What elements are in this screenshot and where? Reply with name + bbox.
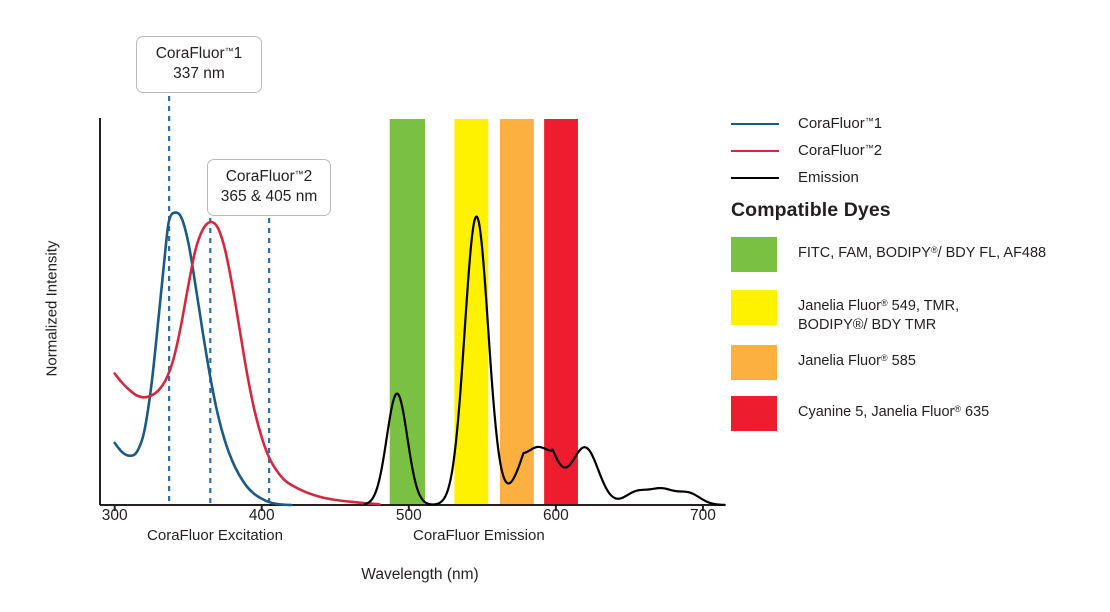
x-tick-label-700: 700: [673, 507, 733, 525]
callout-corafluor1-line1: CoraFluor™1: [149, 44, 249, 64]
dye-item-3: Cyanine 5, Janelia Fluor® 635: [731, 396, 989, 431]
callout-corafluor1-line2: 337 nm: [149, 64, 249, 84]
callout-corafluor2-line2: 365 & 405 nm: [220, 187, 318, 207]
x-axis-sublabel-emission: CoraFluor Emission: [413, 527, 543, 544]
excitation-marker-lines: [169, 86, 269, 505]
legend-item-label: Emission: [798, 169, 859, 186]
x-axis-title: Wavelength (nm): [320, 566, 520, 584]
green-band: [390, 119, 425, 505]
curve-corafluor1: [115, 213, 291, 505]
legend-line-swatch: [731, 177, 779, 179]
legend-line-swatch: [731, 150, 779, 152]
callout-corafluor1: CoraFluor™1 337 nm: [136, 36, 262, 93]
legend-item-label: CoraFluor™1: [798, 115, 882, 132]
red-band: [544, 119, 578, 505]
yellow-band: [454, 119, 488, 505]
dye-item-1: Janelia Fluor® 549, TMR,BODIPY®/ BDY TMR: [731, 290, 959, 336]
callout-corafluor2: CoraFluor™2 365 & 405 nm: [207, 159, 331, 216]
dye-item-label: Janelia Fluor® 549, TMR,BODIPY®/ BDY TMR: [798, 290, 959, 336]
dye-color-swatch: [731, 237, 777, 272]
dye-color-swatch: [731, 290, 777, 325]
x-axis-sublabel-excitation: CoraFluor Excitation: [145, 527, 285, 544]
x-tick-label-500: 500: [379, 507, 439, 525]
callout-corafluor2-line1: CoraFluor™2: [220, 167, 318, 187]
y-axis-title: Normalized Intensity: [44, 219, 61, 399]
legend-item-2: Emission: [731, 164, 1101, 191]
dye-item-2: Janelia Fluor® 585: [731, 345, 916, 380]
dye-item-0: FITC, FAM, BODIPY®/ BDY FL, AF488: [731, 237, 1046, 272]
legend-line-swatch: [731, 123, 779, 125]
orange-band: [500, 119, 534, 505]
compatible-dyes-title: Compatible Dyes: [731, 199, 891, 222]
dye-color-swatch: [731, 345, 777, 380]
legend-item-label: CoraFluor™2: [798, 142, 882, 159]
legend-item-1: CoraFluor™2: [731, 137, 1101, 164]
series-legend: CoraFluor™1CoraFluor™2Emission: [731, 110, 1101, 191]
legend-item-0: CoraFluor™1: [731, 110, 1101, 137]
dye-item-label: Cyanine 5, Janelia Fluor® 635: [798, 396, 989, 422]
emission-bands: [390, 119, 578, 505]
dye-item-label: Janelia Fluor® 585: [798, 345, 916, 371]
x-tick-label-400: 400: [232, 507, 292, 525]
x-tick-label-300: 300: [85, 507, 145, 525]
x-tick-label-600: 600: [526, 507, 586, 525]
dye-color-swatch: [731, 396, 777, 431]
dye-item-label: FITC, FAM, BODIPY®/ BDY FL, AF488: [798, 237, 1046, 263]
